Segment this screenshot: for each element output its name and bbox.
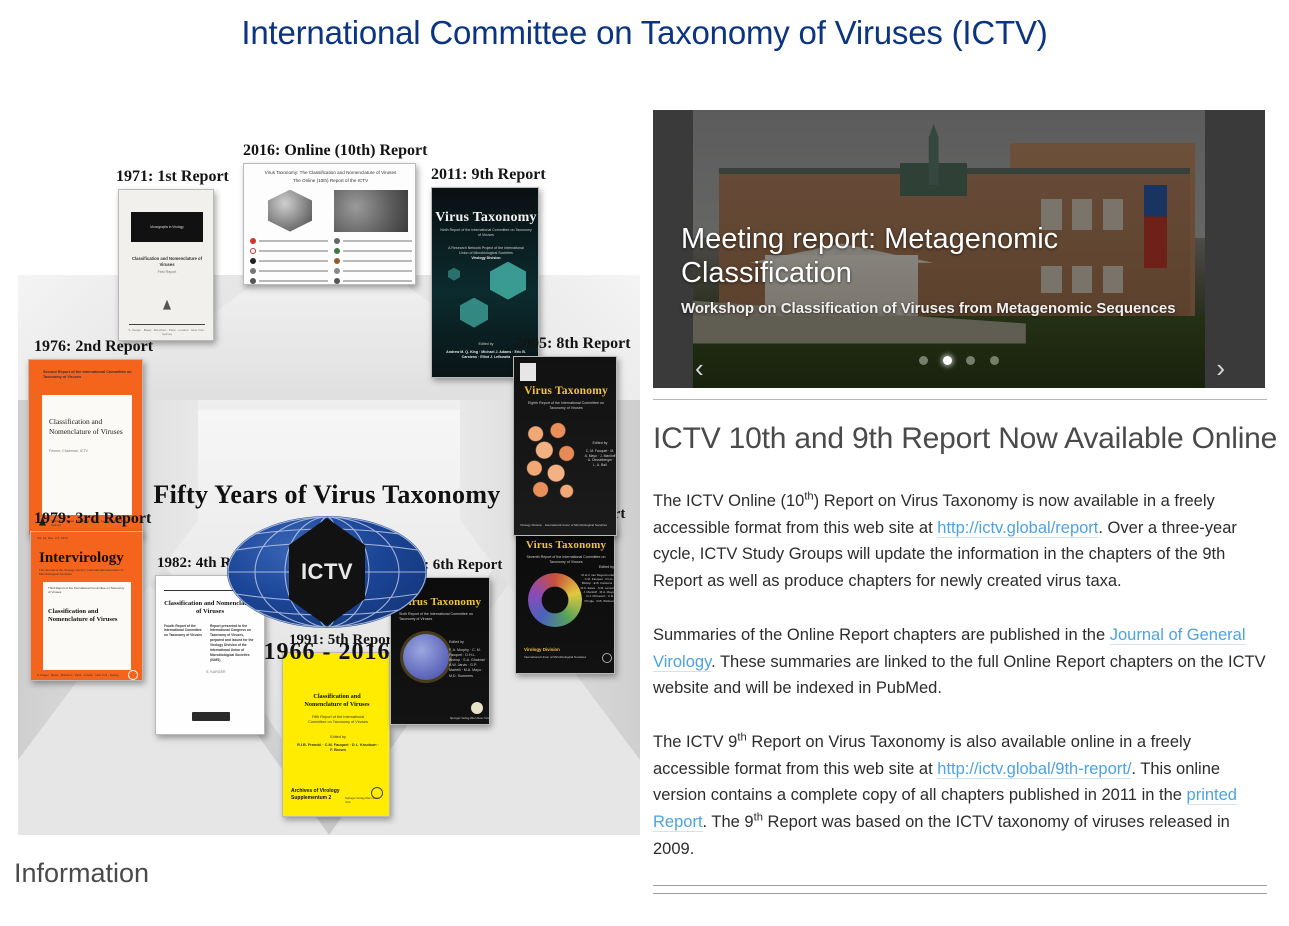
iums-logo-icon	[602, 653, 612, 663]
cover-subtitle: Eighth Report of the International Commi…	[522, 401, 610, 411]
p3-sup-1: th	[737, 732, 746, 744]
cover-header: Second Report of the International Commi…	[43, 370, 133, 381]
link-report-9th[interactable]: http://ictv.global/9th-report/	[937, 760, 1131, 779]
cover-subtitle: Fenner, Chairman, ICTV	[49, 449, 129, 454]
carousel-dot-2[interactable]	[943, 356, 952, 365]
p3-text-a: The ICTV 9	[653, 733, 737, 751]
article-paragraph-1: The ICTV Online (10th) Report on Virus T…	[653, 488, 1267, 595]
cover-footer: S. Karger · Basel · München · Paris · Lo…	[125, 328, 209, 337]
cover-footer: Virology Division · International Union …	[520, 523, 614, 527]
cover-title: Classification and Nomenclature of Virus…	[299, 693, 375, 710]
report-label: 2016: Online (10th) Report	[243, 142, 427, 160]
carousel-dot-1[interactable]	[919, 356, 928, 365]
divider-bottom-1	[653, 885, 1267, 886]
carousel-subtitle: Workshop on Classification of Viruses fr…	[681, 300, 1211, 317]
fifty-years-poster-image: Fifty Years of Virus Taxonomy	[0, 100, 645, 845]
report-1979: 1979: 3rd Report Vol. 12, Nos. 3-5, 1979…	[30, 510, 151, 681]
cover-title: Classification and Nomenclature of Virus…	[49, 417, 129, 437]
poster-center-block: Fifty Years of Virus Taxonomy	[152, 480, 502, 666]
cover-editors-label: Edited by	[303, 735, 373, 741]
capsid-thumbnail-icon	[268, 190, 312, 232]
cover-title: Virus Taxonomy: The Classification and N…	[250, 170, 411, 177]
information-heading: Information	[14, 858, 149, 889]
cover-brand: Intervirology	[39, 550, 124, 567]
cover-inner-panel: Classification and Nomenclature of Virus…	[42, 395, 132, 515]
report-cover: Virus Taxonomy: The Classification and N…	[243, 163, 416, 285]
capsid-icon	[448, 268, 460, 281]
left-column: Fifty Years of Virus Taxonomy	[0, 100, 645, 890]
karger-logo-icon	[192, 712, 230, 721]
cover-subtitle: Ninth Report of the International Commit…	[439, 228, 533, 238]
report-cover: Monographs in Virology Classification an…	[118, 189, 214, 341]
article-paragraph-3: The ICTV 9th Report on Virus Taxonomy is…	[653, 729, 1267, 863]
capsid-icon	[490, 262, 526, 300]
report-cover: Virus Taxonomy Eighth Report of the Inte…	[513, 356, 617, 536]
page-root: International Committee on Taxonomy of V…	[0, 0, 1289, 926]
p3-text-d: . The 9	[703, 813, 754, 831]
cover-note: A Research Network Project of the Intern…	[444, 246, 528, 256]
report-1971: 1971: 1st Report Monographs in Virology …	[96, 168, 229, 341]
article-block: ICTV 10th and 9th Report Now Available O…	[653, 400, 1267, 863]
cover-title: Virus Taxonomy	[514, 385, 617, 397]
publisher-mark-icon	[163, 300, 171, 310]
report-label: 2011: 9th Report	[425, 166, 546, 184]
report-cover: Classification and Nomenclature of Virus…	[282, 652, 390, 817]
cover-list-right	[334, 238, 412, 285]
cover-titlebox: Monographs in Virology	[131, 212, 203, 242]
cover-list-left	[250, 238, 328, 285]
p1-sup-1: th	[804, 491, 813, 503]
cover-subtitle: Classification and Nomenclature of Virus…	[127, 256, 207, 269]
virion-ring-illustration-icon	[528, 573, 582, 627]
carousel-dot-4[interactable]	[990, 356, 999, 365]
ictv-logo: ICTV	[227, 516, 427, 634]
cover-title: Classification and Nomenclature of Virus…	[48, 608, 128, 625]
report-cover: Vol. 12, Nos. 3-5, 1979 Intervirology Th…	[30, 531, 143, 681]
report-cover: Virus Taxonomy Seventh Report of the Int…	[515, 526, 615, 674]
cover-editors: R.I.B. Francki · C.M. Fauquet · D.L. Knu…	[297, 743, 379, 754]
cover-series: Archives of Virology Supplementum 2	[291, 788, 341, 803]
page-title: International Committee on Taxonomy of V…	[0, 14, 1289, 52]
carousel-title: Meeting report: Metagenomic Classificati…	[681, 222, 1211, 290]
poster-years: 1966 - 2016	[152, 639, 502, 666]
report-label: 1976: 2nd Report	[28, 338, 153, 356]
cover-subtitle: The Online (10th) Report of the ICTV	[250, 178, 411, 185]
cover-editors: M.H.V. van Regenmortel · C.M. Fauquet · …	[580, 573, 614, 603]
ictv-logo-text: ICTV	[301, 559, 353, 585]
report-2005: 2005: 8th Report Virus Taxonomy Eighth R…	[513, 335, 631, 536]
micrograph-thumbnail-icon	[334, 190, 408, 232]
article-heading: ICTV 10th and 9th Report Now Available O…	[653, 422, 1267, 455]
cover-publisher: Springer-Verlag Wien New York	[431, 716, 489, 720]
springer-logo-icon	[371, 787, 383, 799]
carousel-dots	[653, 352, 1265, 370]
cover-title: Virus Taxonomy	[516, 539, 615, 551]
cover-inner-panel: Third Report of the International Commit…	[43, 582, 131, 670]
right-column: Meeting report: Metagenomic Classificati…	[653, 110, 1267, 894]
p2-text-b: . These summaries are linked to the full…	[653, 653, 1266, 698]
carousel-dot-3[interactable]	[966, 356, 975, 365]
carousel-caption: Meeting report: Metagenomic Classificati…	[681, 222, 1211, 317]
divider-bottom-2	[653, 893, 1267, 894]
report-label: 1971: 1st Report	[96, 168, 229, 186]
cover-editors-label: Edited by	[586, 441, 614, 446]
report-label: 1979: 3rd Report	[30, 510, 151, 528]
poster-center-title: Fifty Years of Virus Taxonomy	[152, 480, 502, 510]
p2-text-a: Summaries of the Online Report chapters …	[653, 626, 1110, 644]
cover-edition: First Report	[127, 270, 207, 275]
cover-subtitle: Seventh Report of the International Comm…	[526, 555, 606, 565]
capsid-array-illustration-icon	[522, 419, 584, 501]
cover-subtitle: Fifth Report of the International Commit…	[303, 715, 373, 726]
report-2016-online: 2016: Online (10th) Report Virus Taxonom…	[243, 142, 427, 285]
article-paragraph-2: Summaries of the Online Report chapters …	[653, 622, 1267, 702]
cover-rule	[129, 324, 205, 325]
cover-footer: S. Karger · Basel · München · Paris · Lo…	[37, 673, 133, 677]
cover-division: Virology Division	[444, 256, 528, 261]
cover-editors: C. M. Fauquet · M. A. Mayo · J. Maniloff…	[584, 449, 616, 469]
cover-division: Virology Division	[524, 647, 594, 653]
cover-editors-label: Edited by	[584, 565, 614, 570]
cover-brand-subtitle: The Journal of the Virology Section, Int…	[39, 568, 135, 577]
cover-header: Third Report of the International Commit…	[48, 586, 126, 595]
karger-logo-icon	[128, 670, 138, 680]
p1-text-a: The ICTV Online (10	[653, 492, 804, 510]
cover-title: Virus Taxonomy	[432, 210, 539, 226]
springer-logo-icon	[471, 702, 483, 714]
cover-footer: International Union of Microbiological S…	[524, 655, 604, 659]
report-label: 2005: 8th Report	[513, 335, 631, 353]
p3-sup-2: th	[754, 812, 763, 824]
report-1976: 1976: 2nd Report Second Report of the In…	[28, 338, 153, 536]
featured-carousel[interactable]: Meeting report: Metagenomic Classificati…	[653, 110, 1265, 388]
link-report-10th[interactable]: http://ictv.global/report	[937, 519, 1098, 538]
publisher-badge-icon	[520, 363, 536, 381]
cover-imprint: S. KARGER	[206, 670, 258, 675]
capsid-icon	[460, 298, 488, 328]
cover-volume: Vol. 12, Nos. 3-5, 1979	[37, 536, 137, 541]
